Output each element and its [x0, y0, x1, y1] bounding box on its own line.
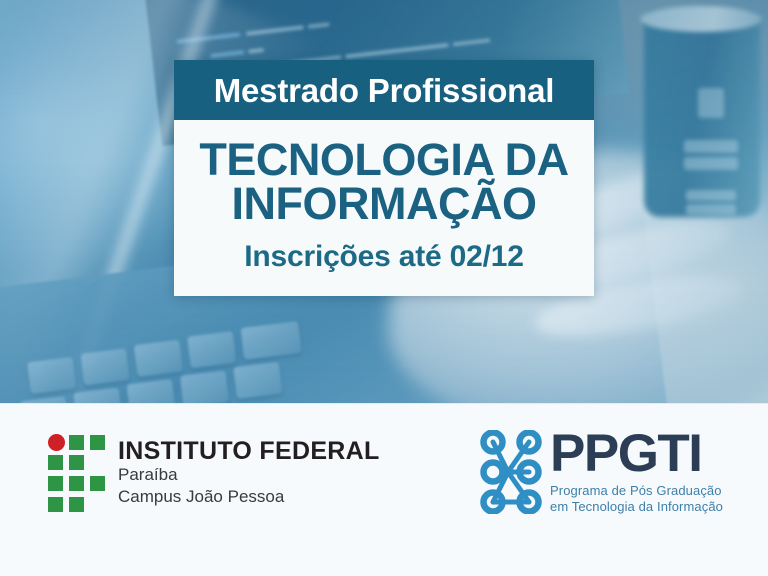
- registration-deadline: Inscrições até 02/12: [184, 240, 584, 274]
- ifpb-square: [69, 497, 84, 512]
- ifpb-institution-name: INSTITUTO FEDERAL: [118, 438, 380, 464]
- ppgti-tagline-line-2: em Tecnologia da Informação: [550, 499, 723, 516]
- poster: Mestrado Profissional TECNOLOGIA DA INFO…: [0, 0, 768, 576]
- card-header: Mestrado Profissional: [174, 60, 594, 120]
- ifpb-square: [48, 497, 63, 512]
- ifpb-red-dot-icon: [48, 434, 65, 451]
- page-title-line-1: TECNOLOGIA DA: [184, 138, 584, 182]
- ifpb-state-name: Paraíba: [118, 464, 380, 486]
- ifpb-campus-name: Campus João Pessoa: [118, 486, 380, 508]
- ppgti-logo: PPGTI Programa de Pós Graduação em Tecno…: [478, 430, 723, 516]
- ifpb-square: [69, 455, 84, 470]
- page-title: TECNOLOGIA DA INFORMAÇÃO: [184, 138, 584, 226]
- ifpb-square: [90, 476, 105, 491]
- ppgti-tagline: Programa de Pós Graduação em Tecnologia …: [550, 483, 723, 516]
- ppgti-network-icon: [478, 430, 544, 514]
- ifpb-square: [48, 455, 63, 470]
- ppgti-acronym: PPGTI: [550, 430, 723, 479]
- ifpb-logo: INSTITUTO FEDERAL Paraíba Campus João Pe…: [48, 432, 380, 512]
- ifpb-wordmark: INSTITUTO FEDERAL Paraíba Campus João Pe…: [118, 432, 380, 508]
- page-title-line-2: INFORMAÇÃO: [184, 182, 584, 226]
- ifpb-square: [90, 435, 105, 450]
- card-body: TECNOLOGIA DA INFORMAÇÃO Inscrições até …: [174, 120, 594, 296]
- footer-band: INSTITUTO FEDERAL Paraíba Campus João Pe…: [0, 403, 768, 576]
- ifpb-square: [69, 476, 84, 491]
- announcement-card: Mestrado Profissional TECNOLOGIA DA INFO…: [174, 60, 594, 296]
- ifpb-grid-icon: [48, 434, 106, 512]
- ppgti-tagline-line-1: Programa de Pós Graduação: [550, 483, 723, 500]
- ppgti-wordmark: PPGTI Programa de Pós Graduação em Tecno…: [550, 430, 723, 516]
- ifpb-square: [69, 435, 84, 450]
- ifpb-square: [48, 476, 63, 491]
- program-level-label: Mestrado Profissional: [214, 74, 555, 107]
